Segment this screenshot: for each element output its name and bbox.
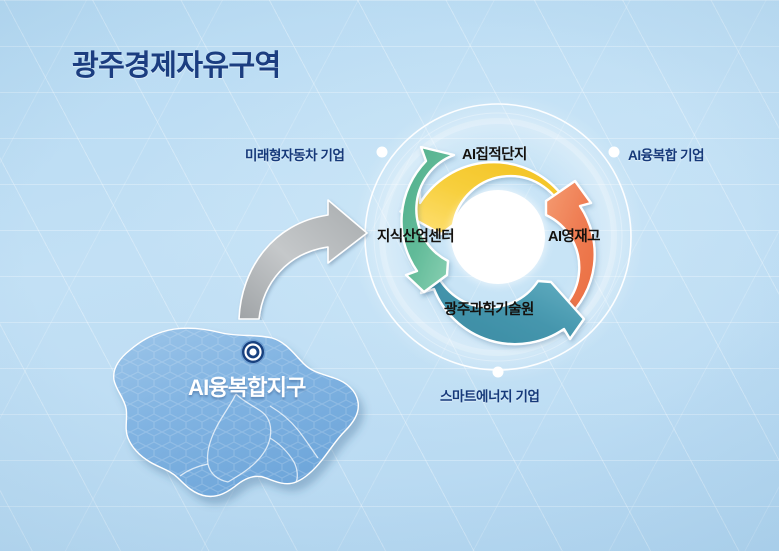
curved-arrow-icon	[235, 195, 385, 320]
segment-label-ai-cluster: AI집적단지	[462, 143, 527, 164]
segment-label-knowledge: 지식산업센터	[377, 225, 454, 246]
outer-label-smart-energy: 스마트에너지 기업	[440, 385, 540, 405]
segment-label-ai-gifted: AI영재고	[548, 225, 600, 246]
outer-label-future-mobility: 미래형자동차 기업	[245, 144, 345, 164]
page-title: 광주경제자유구역	[72, 42, 281, 84]
orbit-dot-bottom[interactable]	[493, 367, 504, 378]
map-region-label-text: AI융복합지구	[188, 375, 306, 400]
gwangju-map	[90, 320, 390, 540]
orbit-dot-right[interactable]	[609, 147, 620, 158]
outer-label-ai-convergence: AI융복합 기업	[628, 144, 704, 164]
orbit-dot-left[interactable]	[377, 147, 388, 158]
cycle-hub	[451, 190, 545, 284]
map-region-label: AI융복합지구	[188, 370, 306, 402]
ai-district-pin[interactable]	[241, 340, 266, 365]
map-texture	[90, 320, 390, 540]
segment-label-gist: 광주과학기술원	[444, 298, 534, 319]
